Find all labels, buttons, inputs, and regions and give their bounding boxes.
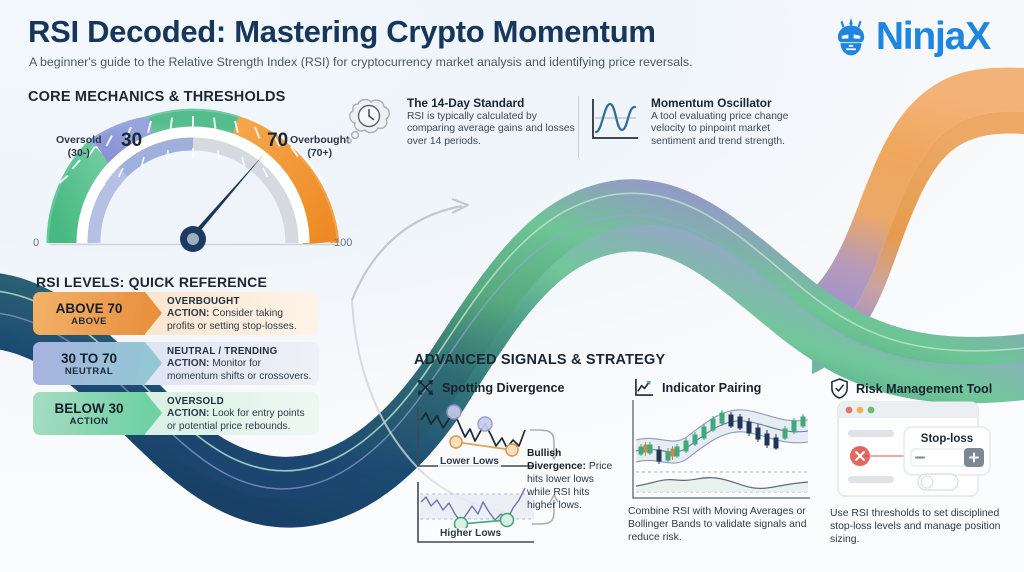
gauge-mark-30: 30	[121, 130, 142, 152]
level-tag: ABOVE	[71, 316, 107, 327]
advanced-title: Spotting Divergence	[442, 381, 564, 395]
page-subtitle: A beginner's guide to the Relative Stren…	[29, 55, 693, 69]
rsi-gauge: Oversold (30-) Overbought (70+) 30 70 0 …	[28, 108, 358, 258]
oversold-text: Oversold	[56, 134, 102, 146]
stop-loss-label: Stop-loss	[921, 433, 973, 445]
gauge-oversold-label: Oversold (30-)	[56, 134, 102, 159]
advanced-title: Indicator Pairing	[662, 381, 761, 395]
gauge-needle	[180, 154, 264, 252]
trend-up-chart-icon	[634, 378, 655, 397]
level-row-overbought[interactable]: ABOVE 70 ABOVE OVERBOUGHT ACTION: Consid…	[33, 292, 319, 335]
section-heading-advanced: ADVANCED SIGNALS & STRATEGY	[414, 352, 665, 368]
oversold-range: (30-)	[68, 147, 90, 159]
level-chip: 30 TO 70 NEUTRAL	[33, 342, 145, 385]
level-row-neutral[interactable]: 30 TO 70 NEUTRAL NEUTRAL / TRENDING ACTI…	[33, 342, 319, 385]
gauge-mark-70: 70	[267, 130, 288, 152]
candlestick-bollinger-chart	[628, 398, 813, 503]
diverging-arrows-icon	[416, 378, 435, 397]
level-chip: BELOW 30 ACTION	[33, 392, 145, 435]
level-body: OVERBOUGHT ACTION: Consider taking profi…	[145, 292, 319, 335]
gauge-scale-min: 0	[33, 237, 39, 249]
level-tag: ACTION	[70, 416, 109, 427]
stop-loss-widget-mock: Stop-loss	[832, 398, 997, 503]
divergence-callout: Bullish Divergence: Price hits lower low…	[527, 447, 619, 512]
info-card-body: A tool evaluating price change velocity …	[651, 111, 813, 148]
level-range: 30 TO 70	[61, 351, 117, 366]
ninja-mask-icon	[830, 16, 872, 58]
level-action-label: ACTION:	[167, 408, 209, 419]
level-action-label: ACTION:	[167, 308, 209, 319]
level-chip: ABOVE 70 ABOVE	[33, 292, 145, 335]
level-action: ACTION: Consider taking profits or setti…	[167, 308, 313, 333]
gauge-dial	[28, 108, 358, 258]
info-card-body: RSI is typically calculated by comparing…	[407, 111, 575, 148]
level-body: NEUTRAL / TRENDING ACTION: Monitor for m…	[145, 342, 319, 385]
rsi-levels-list: ABOVE 70 ABOVE OVERBOUGHT ACTION: Consid…	[33, 292, 319, 442]
divergence-caption-lower: Lower Lows	[438, 456, 501, 467]
level-tag: NEUTRAL	[65, 366, 113, 377]
vertical-divider	[578, 96, 579, 158]
advanced-heading-divergence: Spotting Divergence	[416, 378, 564, 397]
level-row-oversold[interactable]: BELOW 30 ACTION OVERSOLD ACTION: Look fo…	[33, 392, 319, 435]
section-heading-core: CORE MECHANICS & THRESHOLDS	[28, 89, 286, 105]
thought-bubble-clock-icon	[340, 96, 398, 150]
gauge-scale-max: 100	[334, 237, 352, 249]
level-heading: OVERSOLD	[167, 396, 313, 408]
level-range: BELOW 30	[54, 401, 123, 416]
pairing-body: Combine RSI with Moving Averages or Boll…	[628, 506, 818, 544]
brand-name: NinjaX	[876, 16, 990, 58]
advanced-heading-pairing: Indicator Pairing	[634, 378, 761, 397]
level-action: ACTION: Monitor for momentum shifts or c…	[167, 358, 313, 383]
level-range: ABOVE 70	[56, 301, 123, 316]
advanced-title: Risk Management Tool	[856, 382, 992, 396]
section-heading-levels: RSI LEVELS: QUICK REFERENCE	[36, 274, 267, 290]
level-action-label: ACTION:	[167, 358, 209, 369]
overbought-range: (70+)	[307, 147, 332, 159]
oscillator-chart-icon	[588, 96, 642, 144]
risk-body: Use RSI thresholds to set disciplined st…	[830, 508, 1008, 546]
advanced-heading-risk: Risk Management Tool	[830, 378, 992, 399]
level-heading: NEUTRAL / TRENDING	[167, 346, 313, 358]
info-card-title: The 14-Day Standard	[407, 96, 575, 110]
info-card-oscillator: Momentum Oscillator A tool evaluating pr…	[588, 96, 813, 148]
page-title: RSI Decoded: Mastering Crypto Momentum	[28, 14, 656, 50]
level-body: OVERSOLD ACTION: Look for entry points o…	[145, 392, 319, 435]
divergence-callout-title: Bullish Divergence:	[527, 448, 586, 472]
info-card-14day: The 14-Day Standard RSI is typically cal…	[340, 96, 575, 150]
info-card-title: Momentum Oscillator	[651, 96, 813, 110]
divergence-caption-higher: Higher Lows	[438, 528, 503, 539]
level-heading: OVERBOUGHT	[167, 296, 313, 308]
shield-check-icon	[830, 378, 849, 399]
level-action: ACTION: Look for entry points or potenti…	[167, 408, 313, 433]
brand-logo: NinjaX	[830, 16, 990, 58]
